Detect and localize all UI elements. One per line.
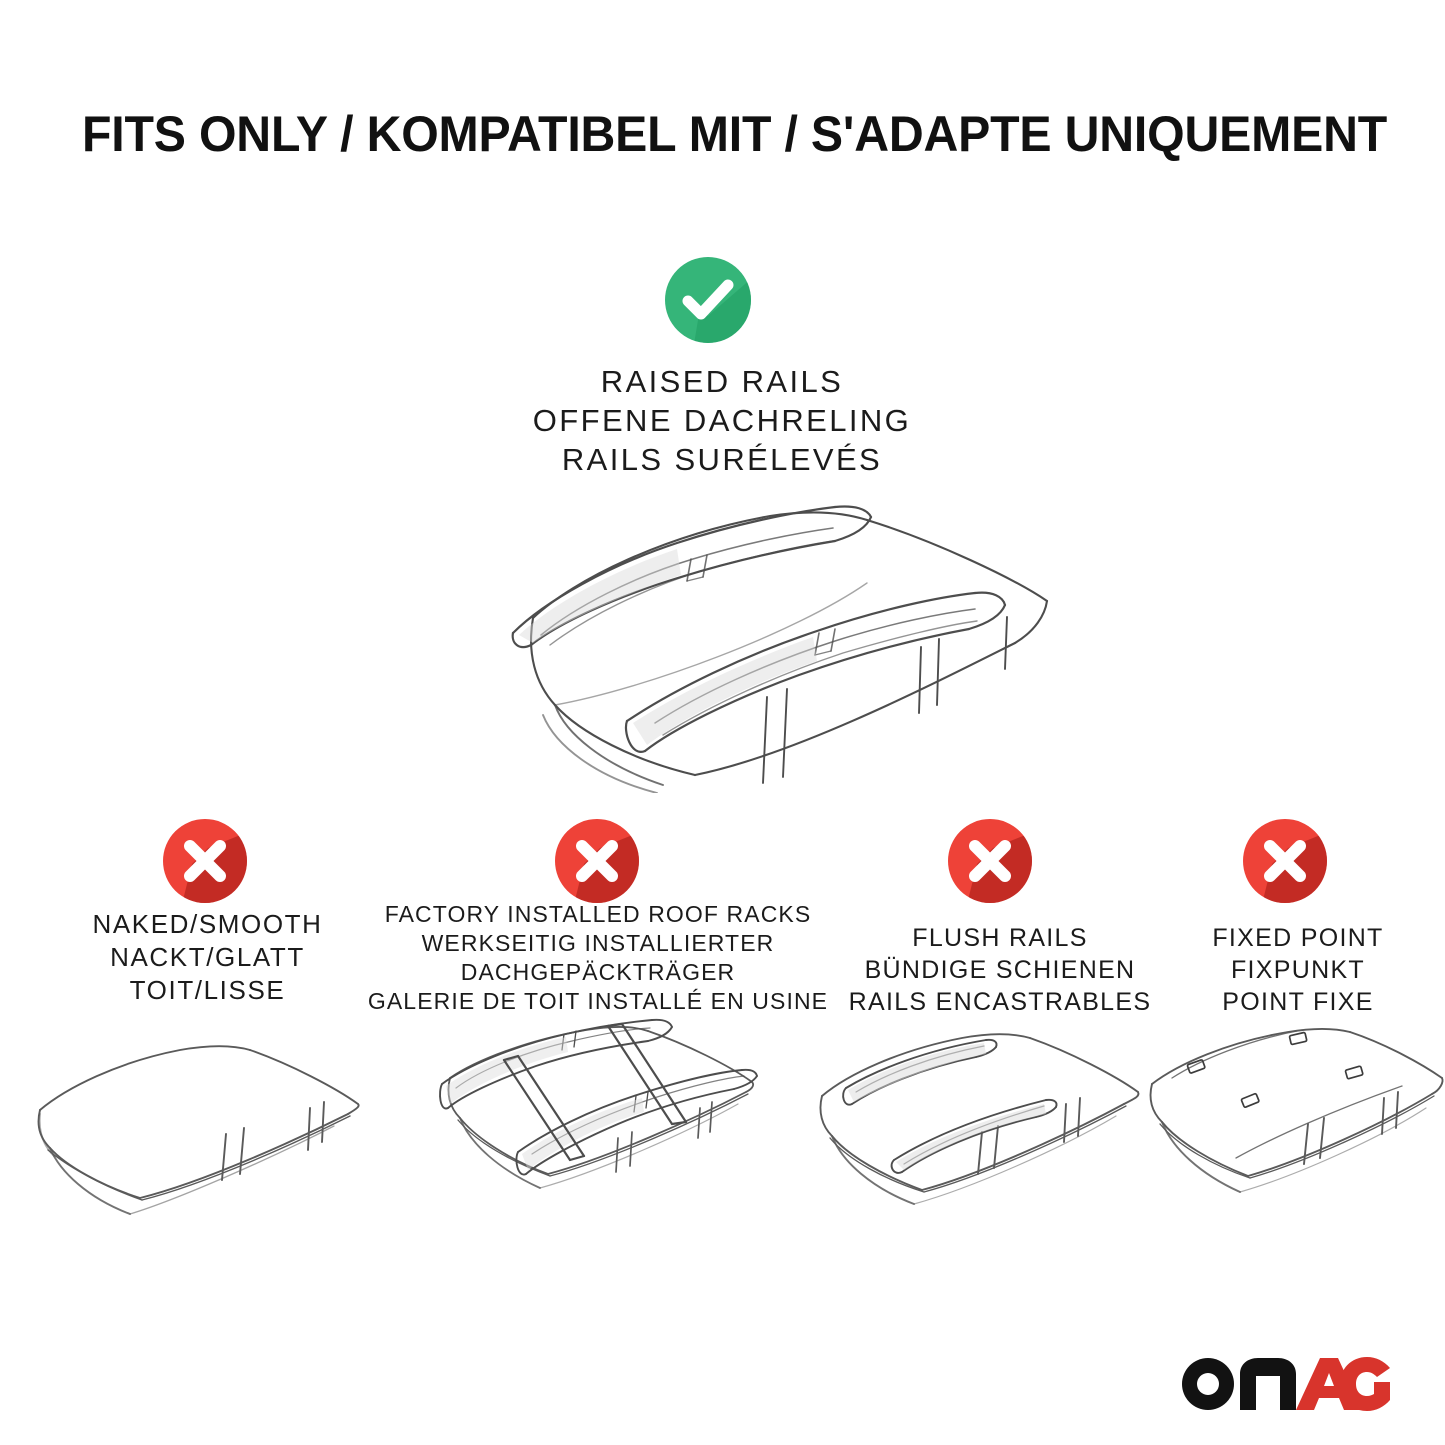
incompatible-labels-factory-rack: FACTORY INSTALLED ROOF RACKS WERKSEITIG … [352,900,844,1016]
car-roof-naked-smooth-diagram [18,1022,370,1254]
incompatible-labels-flush-rails: FLUSH RAILS BÜNDIGE SCHIENEN RAILS ENCAS… [805,922,1195,1018]
car-roof-fixed-point-diagram [1130,1012,1445,1252]
rail-shade [519,549,681,643]
cross-circle-icon [947,818,1033,904]
omac-logo [1178,1352,1390,1414]
incompatible-labels-naked-smooth: NAKED/SMOOTH NACKT/GLATT TOIT/LISSE [20,908,395,1007]
compatible-label-en: RAISED RAILS [322,362,1122,401]
label-line-de-2: DACHGEPÄCKTRÄGER [352,958,844,987]
label-line-fr: TOIT/LISSE [20,974,395,1007]
car-roof-raised-rails-diagram [415,483,1055,793]
car-roof-factory-rack-diagram [400,1012,762,1252]
label-line-en: FACTORY INSTALLED ROOF RACKS [352,900,844,929]
cross-circle-icon [554,818,640,904]
label-line-de: FIXPUNKT [1148,954,1445,986]
fitment-compatibility-infographic: FITS ONLY / KOMPATIBEL MIT / S'ADAPTE UN… [0,0,1445,1445]
label-line-en: NAKED/SMOOTH [20,908,395,941]
label-line-de: NACKT/GLATT [20,941,395,974]
label-line-en: FLUSH RAILS [805,922,1195,954]
compatible-label-fr: RAILS SURÉLEVÉS [322,440,1122,479]
car-roof-flush-rails-diagram [790,1012,1152,1252]
label-line-de: BÜNDIGE SCHIENEN [805,954,1195,986]
cross-circle-icon [162,818,248,904]
page-title: FITS ONLY / KOMPATIBEL MIT / S'ADAPTE UN… [82,103,1327,165]
compatible-label-de: OFFENE DACHRELING [322,401,1122,440]
cross-circle-icon [1242,818,1328,904]
incompatible-labels-fixed-point: FIXED POINT FIXPUNKT POINT FIXE [1148,922,1445,1018]
check-circle-icon [664,256,752,344]
label-line-de-1: WERKSEITIG INSTALLIERTER [352,929,844,958]
label-line-en: FIXED POINT [1148,922,1445,954]
compatible-labels: RAISED RAILS OFFENE DACHRELING RAILS SUR… [322,362,1122,479]
